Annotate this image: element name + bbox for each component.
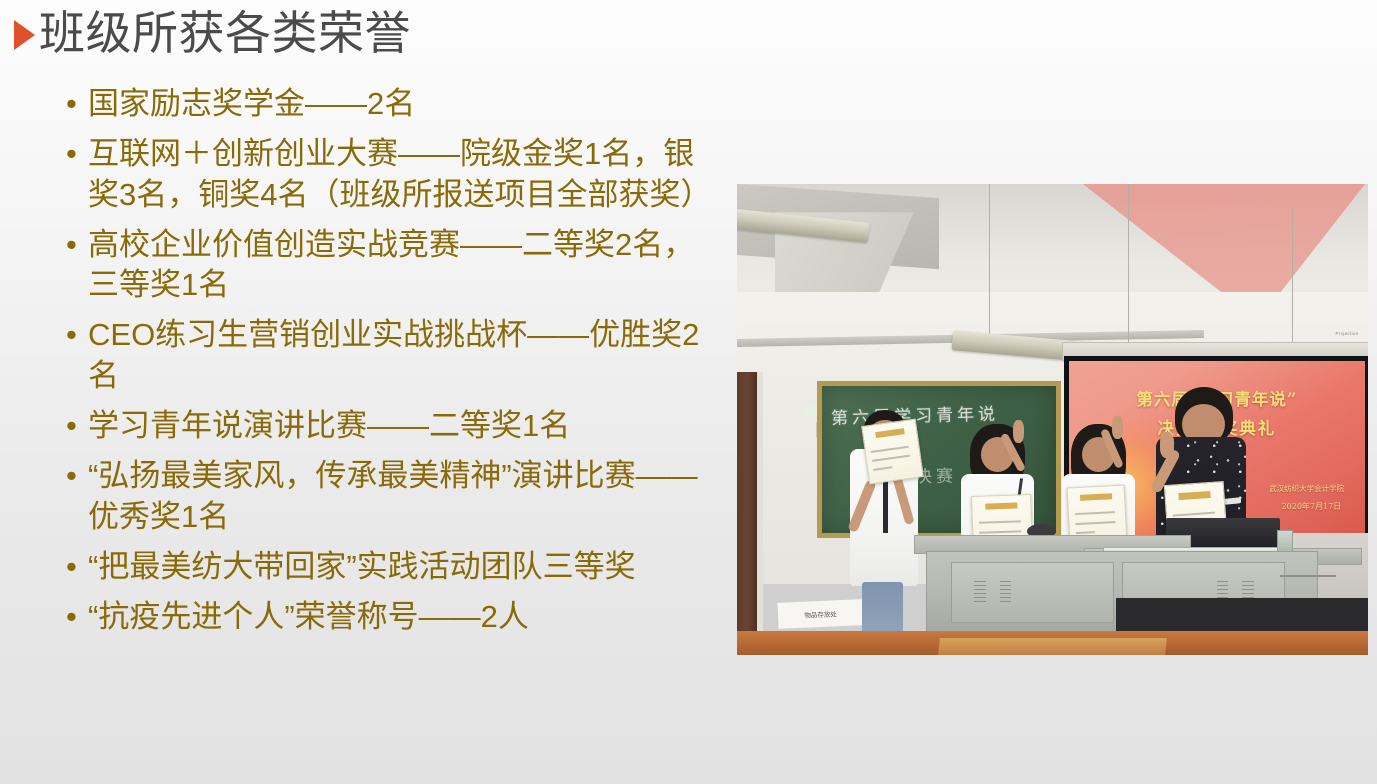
list-item-text: “抗疫先进个人”荣誉称号——2人: [88, 597, 706, 637]
photo-cable: [1280, 575, 1337, 577]
award-ceremony-photo: 物品存放处 第六届学习青年说 决赛 Projection 第六届“学习青年说” …: [737, 184, 1368, 655]
bullet-dot-icon: •: [66, 225, 88, 265]
photo-screen-organization: 武汉纺织大学会计学院: [1269, 483, 1344, 494]
page-title-text: 班级所获各类荣誉: [39, 9, 411, 57]
photo-podium-door: [951, 562, 1114, 624]
photo-certificate-line: [873, 455, 911, 462]
photo-wooden-desk-front: [938, 638, 1167, 655]
list-item-text: 互联网＋创新创业大赛——院级金奖1名，银奖3名，铜奖4名（班级所报送项目全部获奖…: [88, 134, 706, 215]
photo-screen-brand: Projection: [1336, 331, 1359, 336]
list-item-text: 高校企业价值创造实战竞赛——二等奖2名，三等奖1名: [88, 225, 706, 306]
photo-student-hand: [1013, 420, 1024, 443]
list-item-text: CEO练习生营销创业实战挑战杯——优胜奖2名: [88, 315, 706, 396]
bullet-dot-icon: •: [66, 315, 88, 355]
photo-certificate-title-bar: [985, 502, 1018, 509]
photo-certificate-line: [1075, 521, 1116, 525]
photo-door: [737, 372, 757, 636]
bullet-dot-icon: •: [66, 547, 88, 587]
photo-door-jamb: [757, 372, 763, 636]
photo-certificate-line: [1074, 511, 1115, 515]
photo-certificate-line: [871, 446, 909, 453]
photo-lamp-wire: [1128, 184, 1129, 344]
list-item: • 高校企业价值创造实战竞赛——二等奖2名，三等奖1名: [66, 225, 706, 306]
photo-certificate-title-bar: [875, 428, 905, 438]
photo-student-hand: [1112, 416, 1123, 439]
bullet-dot-icon: •: [66, 597, 88, 637]
bullet-dot-icon: •: [66, 406, 88, 446]
photo-certificate: [862, 419, 924, 485]
photo-student: [844, 410, 932, 655]
photo-certificate-line: [979, 520, 1021, 523]
list-item: • 国家励志奖学金——2名: [66, 84, 706, 124]
bullet-dot-icon: •: [66, 456, 88, 496]
slide-root: 班级所获各类荣誉 • 国家励志奖学金——2名 • 互联网＋创新创业大赛——院级金…: [0, 0, 1377, 784]
list-item-text: “把最美纺大带回家”实践活动团队三等奖: [88, 547, 706, 587]
list-item-text: 学习青年说演讲比赛——二等奖1名: [88, 406, 706, 446]
triangle-bullet-icon: [14, 20, 35, 50]
list-item-text: 国家励志奖学金——2名: [88, 84, 706, 124]
photo-screen-date: 2020年7月17日: [1282, 501, 1342, 512]
photo-certificate-title-bar: [1178, 491, 1211, 500]
list-item: • “抗疫先进个人”荣誉称号——2人: [66, 597, 706, 637]
photo-certificate-title-bar: [1080, 493, 1112, 501]
list-item: • “弘扬最美家风，传承最美精神”演讲比赛——优秀奖1名: [66, 456, 706, 537]
photo-podium-vent: [1000, 581, 1011, 605]
honors-bullet-list: • 国家励志奖学金——2名 • 互联网＋创新创业大赛——院级金奖1名，银奖3名，…: [66, 84, 706, 648]
page-title: 班级所获各类荣誉: [14, 2, 411, 64]
list-item: • CEO练习生营销创业实战挑战杯——优胜奖2名: [66, 315, 706, 396]
photo-lamp-wire: [989, 184, 990, 335]
bullet-dot-icon: •: [66, 84, 88, 124]
list-item: • 学习青年说演讲比赛——二等奖1名: [66, 406, 706, 446]
photo-podium-vent: [974, 581, 985, 605]
list-item-text: “弘扬最美家风，传承最美精神”演讲比赛——优秀奖1名: [88, 456, 706, 537]
photo-certificate-line: [979, 530, 1021, 533]
photo-storage-sign-text: 物品存放处: [804, 608, 837, 619]
photo-certificate-line: [1173, 512, 1215, 517]
list-item: • 互联网＋创新创业大赛——院级金奖1名，银奖3名，铜奖4名（班级所报送项目全部…: [66, 134, 706, 215]
photo-content: 物品存放处 第六届学习青年说 决赛 Projection 第六届“学习青年说” …: [737, 184, 1368, 655]
photo-floor-shadow: [1116, 598, 1368, 633]
bullet-dot-icon: •: [66, 134, 88, 174]
photo-certificate-line: [874, 467, 893, 472]
list-item: • “把最美纺大带回家”实践活动团队三等奖: [66, 547, 706, 587]
photo-student-hand: [1160, 432, 1174, 457]
